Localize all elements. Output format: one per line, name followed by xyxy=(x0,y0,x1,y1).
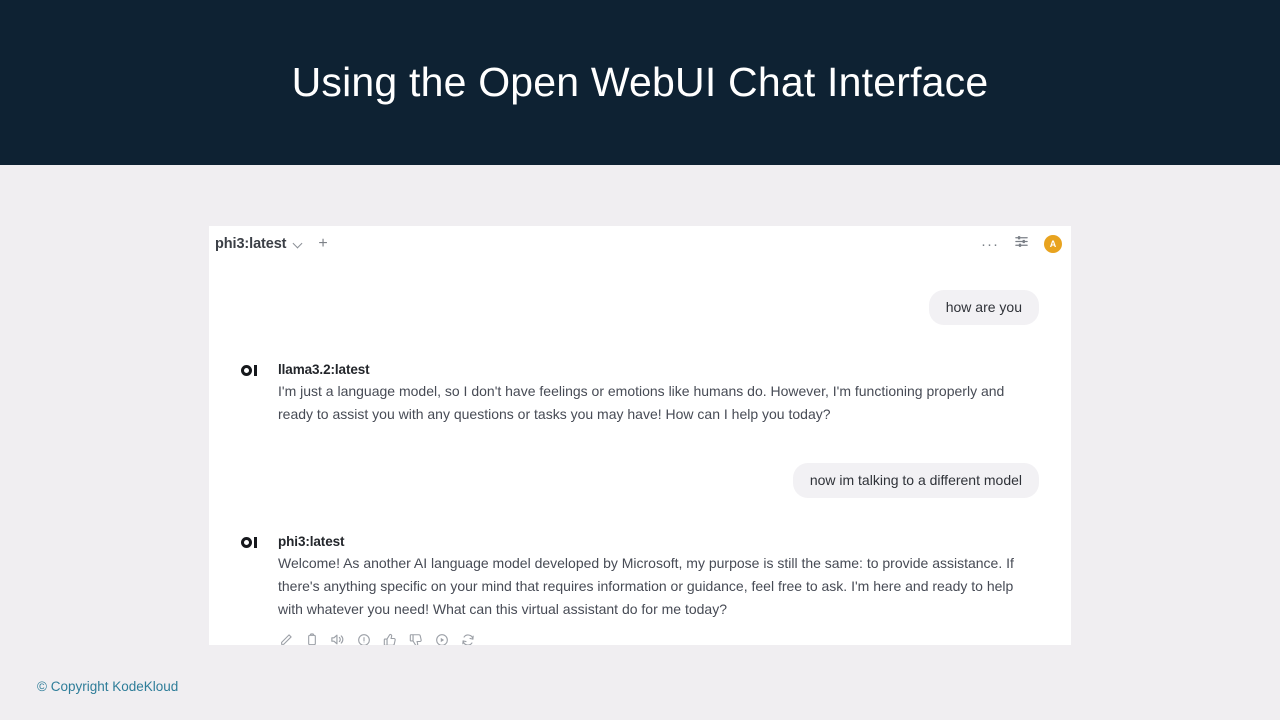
assistant-message-text: Welcome! As another AI language model de… xyxy=(278,552,1039,620)
chat-message-list: how are you llama3.2:latest I'm just a l… xyxy=(209,262,1071,645)
message-action-bar xyxy=(278,632,1039,645)
model-selector-dropdown[interactable]: phi3:latest xyxy=(212,234,307,254)
speaker-icon[interactable] xyxy=(330,632,345,645)
slide: Using the Open WebUI Chat Interface phi3… xyxy=(0,0,1280,720)
copy-icon[interactable] xyxy=(304,632,319,645)
thumbs-down-icon[interactable] xyxy=(408,632,423,645)
more-options-icon[interactable]: ··· xyxy=(981,237,999,252)
spacer xyxy=(241,262,1039,290)
assistant-message-content: llama3.2:latest I'm just a language mode… xyxy=(278,362,1039,426)
selected-model-label: phi3:latest xyxy=(215,236,286,252)
logo-o-shape xyxy=(241,537,252,548)
user-message-bubble: now im talking to a different model xyxy=(793,463,1039,498)
assistant-model-name: llama3.2:latest xyxy=(278,362,1039,377)
thumbs-up-icon[interactable] xyxy=(382,632,397,645)
logo-i-shape xyxy=(254,537,257,548)
spacer xyxy=(241,498,1039,534)
spacer xyxy=(241,426,1039,463)
edit-icon[interactable] xyxy=(278,632,293,645)
continue-icon[interactable] xyxy=(434,632,449,645)
message-assistant: phi3:latest Welcome! As another AI langu… xyxy=(241,534,1039,645)
message-user: how are you xyxy=(241,290,1039,325)
assistant-model-name: phi3:latest xyxy=(278,534,1039,549)
open-webui-chat-window: phi3:latest + ··· A xyxy=(209,226,1071,645)
slide-header: Using the Open WebUI Chat Interface xyxy=(0,0,1280,165)
assistant-message-text: I'm just a language model, so I don't ha… xyxy=(278,380,1039,426)
message-user: now im talking to a different model xyxy=(241,463,1039,498)
chevron-down-icon xyxy=(293,239,304,250)
chat-topbar: phi3:latest + ··· A xyxy=(209,226,1071,262)
avatar[interactable]: A xyxy=(1044,235,1062,253)
copyright-footer: © Copyright KodeKloud xyxy=(37,679,178,694)
user-message-bubble: how are you xyxy=(929,290,1039,325)
sliders-icon[interactable] xyxy=(1014,234,1029,254)
logo-i-shape xyxy=(254,365,257,376)
logo-o-shape xyxy=(241,365,252,376)
spacer xyxy=(241,325,1039,362)
regenerate-icon[interactable] xyxy=(460,632,475,645)
info-icon[interactable] xyxy=(356,632,371,645)
message-assistant: llama3.2:latest I'm just a language mode… xyxy=(241,362,1039,426)
topbar-right-controls: ··· A xyxy=(981,226,1062,262)
assistant-message-content: phi3:latest Welcome! As another AI langu… xyxy=(278,534,1039,645)
page-title: Using the Open WebUI Chat Interface xyxy=(292,59,989,106)
open-webui-logo-icon xyxy=(241,362,263,426)
open-webui-logo-icon xyxy=(241,534,263,645)
add-model-button[interactable]: + xyxy=(318,236,327,252)
